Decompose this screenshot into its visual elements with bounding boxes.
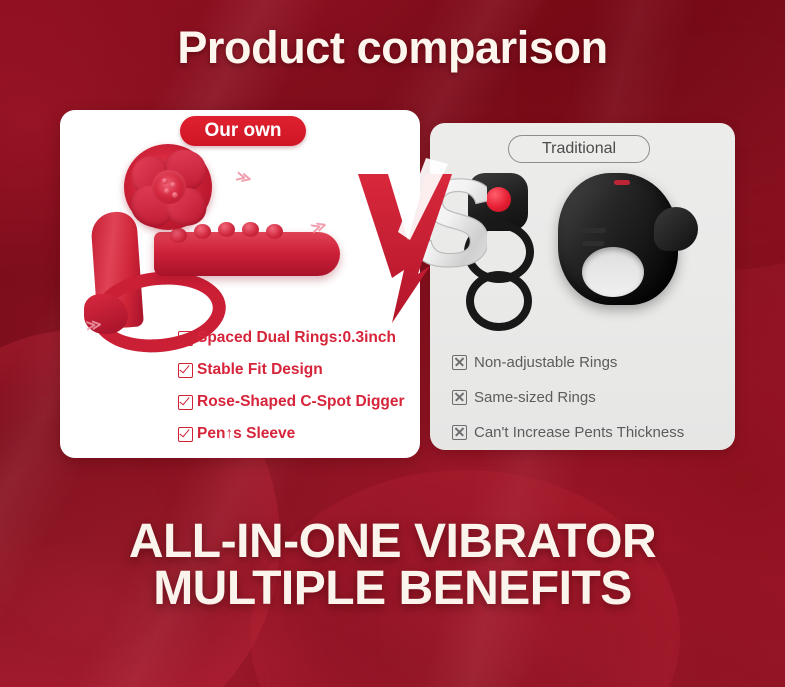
checkbox-x-icon <box>452 355 467 370</box>
headline-line-1: ALL-IN-ONE VIBRATOR <box>129 515 656 568</box>
own-product-panel: Our own ≫ ≫ ≫ <box>60 110 420 458</box>
bottom-headline: ALL-IN-ONE VIBRATOR MULTIPLE BENEFITS <box>0 518 785 612</box>
page-title: Product comparison <box>0 22 785 74</box>
checkbox-checked-icon <box>178 363 193 378</box>
headline-line-2: MULTIPLE BENEFITS <box>0 565 785 612</box>
vibration-wave-icon: ≫ <box>85 315 100 334</box>
drawback-label: Can't Increase Pents Thickness <box>474 424 684 441</box>
checkbox-checked-icon <box>178 331 193 346</box>
drawback-item: Non-adjustable Rings <box>452 345 732 380</box>
feature-item: Stable Fit Design <box>178 354 416 386</box>
sleeve-bead <box>266 224 283 239</box>
checkbox-x-icon <box>452 425 467 440</box>
feature-label: Rose-Shaped C-Spot Digger <box>197 393 405 411</box>
ring-detail <box>580 228 606 233</box>
traditional-drawback-list: Non-adjustable Rings Same-sized Rings Ca… <box>452 345 732 450</box>
feature-label: Spaced Dual Rings:0.3inch <box>197 329 396 347</box>
sleeve-bead <box>194 224 211 239</box>
dual-ring-lower <box>466 271 532 331</box>
ring-nub <box>654 207 698 251</box>
thick-ring-device <box>558 173 678 305</box>
feature-label: Pen↑s Sleeve <box>197 425 295 443</box>
sleeve-bead <box>242 222 259 237</box>
led-indicator-icon <box>614 180 630 185</box>
traditional-product-image <box>450 171 720 336</box>
vibration-wave-icon: ≫ <box>234 167 251 188</box>
sleeve-bead <box>218 222 235 237</box>
own-feature-list: Spaced Dual Rings:0.3inch Stable Fit Des… <box>178 322 416 450</box>
ring-opening <box>582 247 644 297</box>
feature-label: Stable Fit Design <box>197 361 323 379</box>
drawback-item: Can't Increase Pents Thickness <box>452 415 732 450</box>
checkbox-checked-icon <box>178 427 193 442</box>
drawback-label: Non-adjustable Rings <box>474 354 617 371</box>
traditional-badge: Traditional <box>508 135 650 163</box>
feature-item: Pen↑s Sleeve <box>178 418 416 450</box>
ring-detail <box>582 241 604 246</box>
sleeve-bead <box>170 228 187 243</box>
traditional-product-panel: Traditional Non-adjustable Rings Same-si <box>430 123 735 450</box>
rose-head-icon <box>124 144 212 230</box>
checkbox-x-icon <box>452 390 467 405</box>
drawback-item: Same-sized Rings <box>452 380 732 415</box>
drawback-label: Same-sized Rings <box>474 389 596 406</box>
feature-item: Spaced Dual Rings:0.3inch <box>178 322 416 354</box>
feature-item: Rose-Shaped C-Spot Digger <box>178 386 416 418</box>
product-comparison-poster: Product comparison Our own <box>0 0 785 687</box>
power-button-icon <box>486 187 511 212</box>
checkbox-checked-icon <box>178 395 193 410</box>
own-product-image: ≫ ≫ ≫ <box>68 140 398 325</box>
